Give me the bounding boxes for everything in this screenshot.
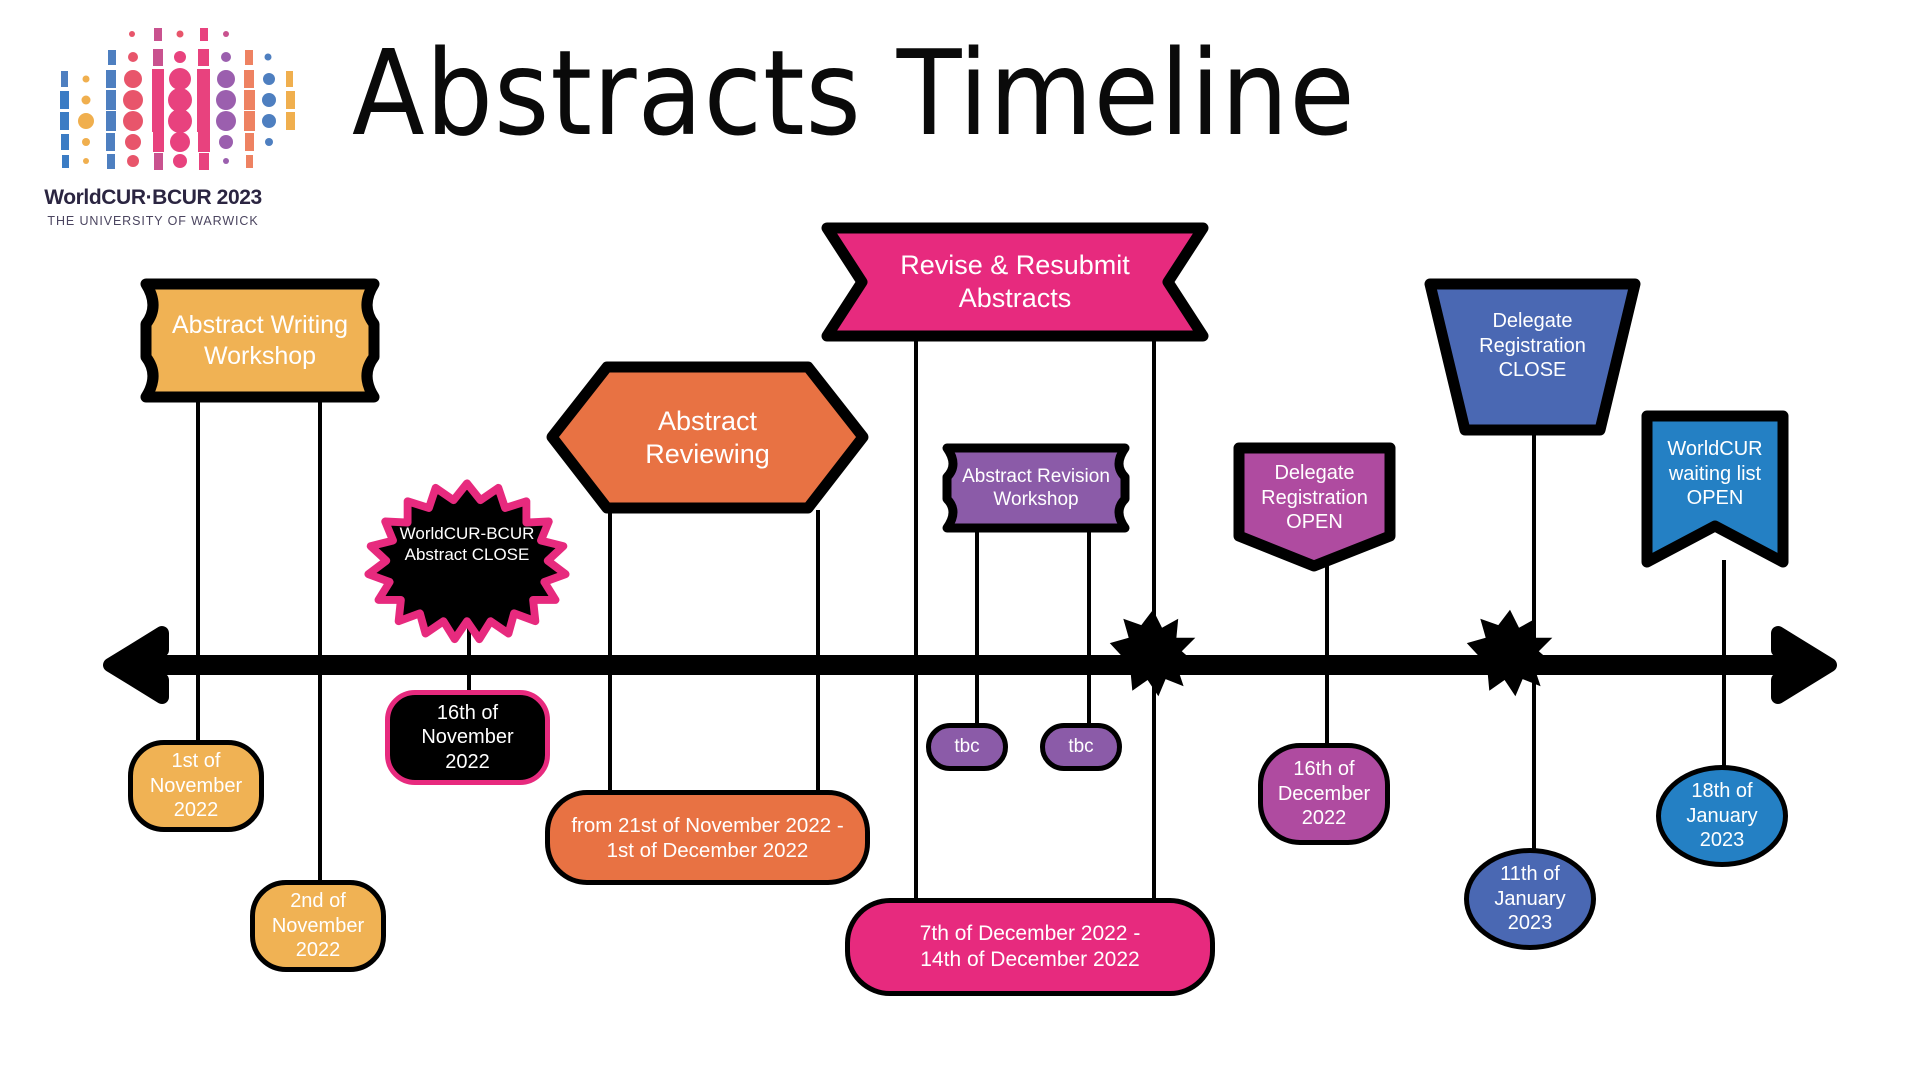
date-line: December: [1278, 782, 1370, 806]
date-line: 16th of: [1278, 757, 1370, 781]
logo-dot-matrix: [28, 18, 278, 183]
timeline-marker-starburst-1: [1108, 608, 1198, 698]
date-line: 2nd of: [272, 889, 364, 913]
event-card-abstract-revision-workshop[interactable]: Abstract Revision Workshop: [925, 443, 1147, 533]
date-pill-16th-december-2022[interactable]: 16th of December 2022: [1258, 743, 1390, 845]
date-line: 7th of December 2022 -: [920, 921, 1141, 947]
date-line: 14th of December 2022: [920, 947, 1141, 973]
event-card-delegate-registration-close[interactable]: Delegate Registration CLOSE: [1420, 278, 1645, 436]
date-pill-18th-january-2023[interactable]: 18th of January 2023: [1656, 765, 1788, 867]
ribbon-banner-shape-pink: [820, 222, 1210, 342]
date-line: 18th of: [1686, 779, 1757, 803]
timeline-marker-starburst-2: [1465, 608, 1555, 698]
bookmark-ribbon-shape-blue: [1640, 410, 1790, 570]
date-pill-tbc-2[interactable]: tbc: [1040, 723, 1122, 771]
date-pill-16th-november-2022[interactable]: 16th of November 2022: [385, 690, 550, 785]
date-pill-2nd-november-2022[interactable]: 2nd of November 2022: [250, 880, 386, 972]
timeline-infographic: WorldCUR·BCUR 2023 THE UNIVERSITY OF WAR…: [0, 0, 1920, 1080]
date-line: November: [150, 774, 242, 798]
plaque-shape-amber: [120, 278, 400, 403]
trapezoid-shape-indigo: [1420, 278, 1645, 436]
date-line: November: [272, 914, 364, 938]
shield-pentagon-shape-orchid: [1232, 442, 1397, 572]
event-card-abstract-reviewing[interactable]: Abstract Reviewing: [545, 360, 870, 515]
date-pill-revise-resubmit-range[interactable]: 7th of December 2022 - 14th of December …: [845, 898, 1215, 996]
date-line: tbc: [1068, 735, 1093, 758]
logo-wordmark: WorldCUR·BCUR 2023: [28, 186, 278, 210]
date-pill-1st-november-2022[interactable]: 1st of November 2022: [128, 740, 264, 832]
event-card-worldcur-waiting-list-open[interactable]: WorldCUR waiting list OPEN: [1640, 410, 1790, 570]
connector-line-awW-date1: [196, 400, 200, 780]
date-pill-abstract-reviewing-range[interactable]: from 21st of November 2022 - 1st of Dece…: [545, 790, 870, 885]
logo-subtitle: THE UNIVERSITY OF WARWICK: [28, 214, 278, 228]
date-line: 2022: [421, 750, 513, 774]
date-line: January: [1686, 804, 1757, 828]
date-line: 2023: [1494, 911, 1565, 935]
date-line: tbc: [954, 735, 979, 758]
date-line: 2023: [1686, 828, 1757, 852]
timeline-axis: [100, 620, 1840, 710]
date-line: 1st of December 2022: [571, 838, 843, 863]
event-card-revise-resubmit-abstracts[interactable]: Revise & Resubmit Abstracts: [820, 222, 1210, 342]
date-line: January: [1494, 887, 1565, 911]
date-line: from 21st of November 2022 -: [571, 813, 843, 838]
event-card-delegate-registration-open[interactable]: Delegate Registration OPEN: [1232, 442, 1397, 572]
date-line: November: [421, 725, 513, 749]
worldcur-bcur-logo: WorldCUR·BCUR 2023 THE UNIVERSITY OF WAR…: [28, 18, 278, 238]
date-line: 2022: [150, 798, 242, 822]
date-line: 2022: [272, 938, 364, 962]
event-card-abstract-writing-workshop[interactable]: Abstract Writing Workshop: [120, 278, 400, 403]
date-line: 11th of: [1494, 862, 1565, 886]
date-pill-11th-january-2023[interactable]: 11th of January 2023: [1464, 848, 1596, 950]
date-line: 16th of: [421, 701, 513, 725]
date-line: 1st of: [150, 749, 242, 773]
plaque-shape-purple: [925, 443, 1147, 533]
hexagon-shape-orange: [545, 360, 870, 515]
date-line: 2022: [1278, 806, 1370, 830]
page-title: Abstracts Timeline: [352, 28, 1552, 158]
date-pill-tbc-1[interactable]: tbc: [926, 723, 1008, 771]
